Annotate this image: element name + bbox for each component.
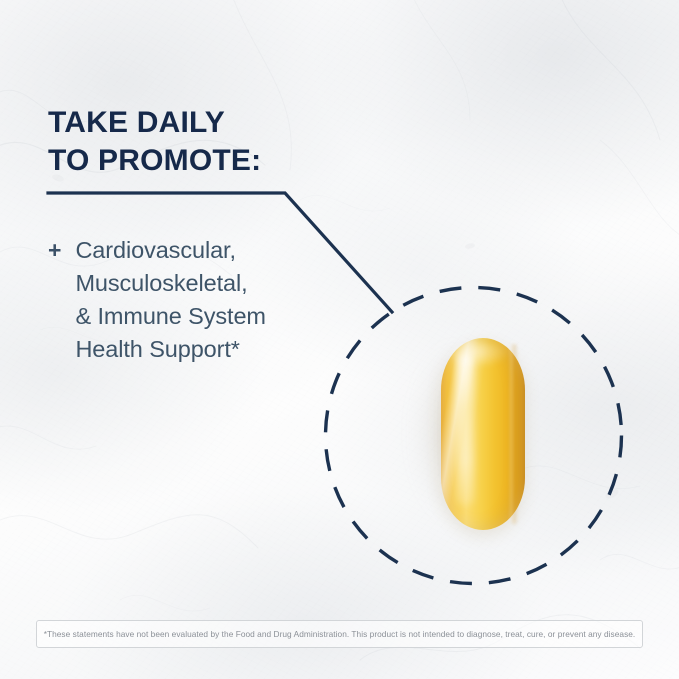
product-benefit-graphic: TAKE DAILY TO PROMOTE: + Cardiovascular,… <box>0 0 679 679</box>
disclaimer-text: *These statements have not been evaluate… <box>44 629 636 639</box>
capsule-seam <box>510 344 518 524</box>
capsule-highlight <box>457 354 474 506</box>
plus-bullet-icon: + <box>48 234 61 267</box>
benefit-list-text: Cardiovascular, Musculoskeletal, & Immun… <box>75 234 265 366</box>
capsule-body <box>441 338 525 530</box>
disclaimer-box: *These statements have not been evaluate… <box>36 620 643 648</box>
page-title: TAKE DAILY TO PROMOTE: <box>48 104 261 181</box>
yellow-softgel-capsule <box>437 338 525 530</box>
benefit-list: + Cardiovascular, Musculoskeletal, & Imm… <box>48 234 266 366</box>
capsule-top-sheen <box>451 342 509 368</box>
